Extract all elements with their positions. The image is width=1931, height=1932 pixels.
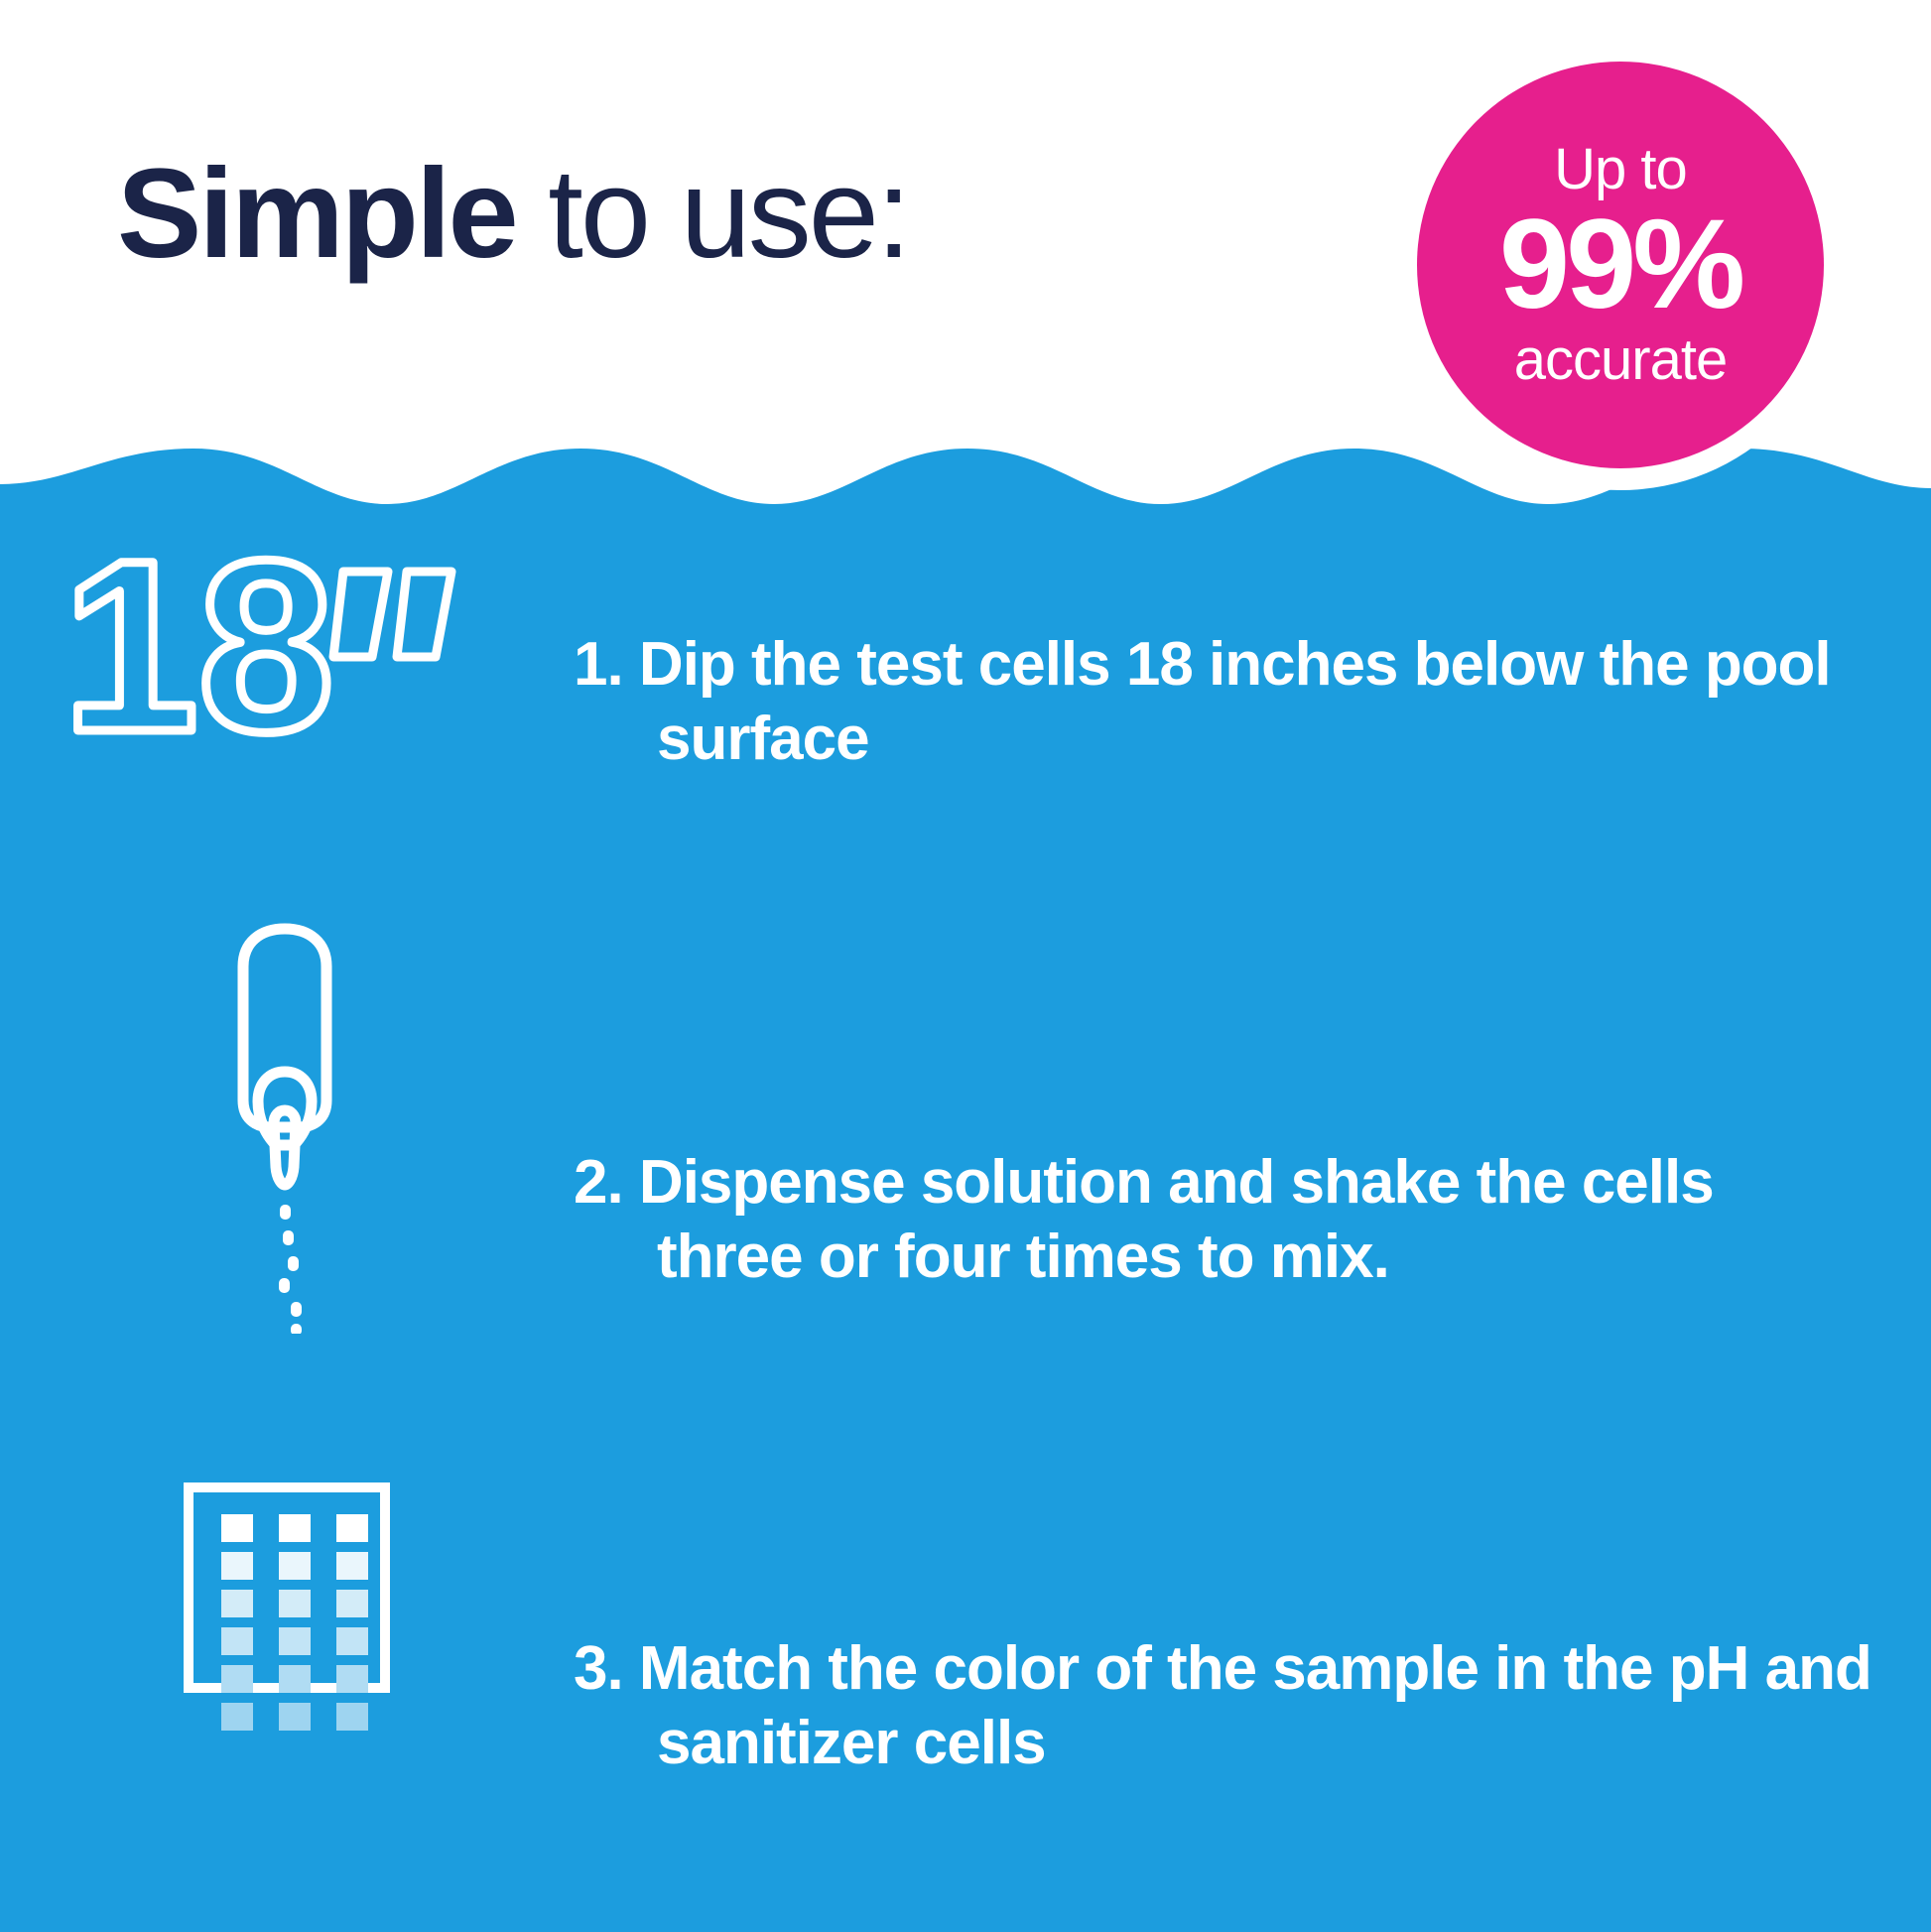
page-title: Simple to use: — [117, 151, 909, 278]
color-swatch — [221, 1665, 253, 1693]
color-swatch — [279, 1665, 311, 1693]
color-swatch — [221, 1703, 253, 1731]
color-swatch — [336, 1590, 368, 1617]
step-row: 18 1. Dip the test cells 18 inches below… — [0, 536, 1931, 776]
color-swatch — [279, 1552, 311, 1580]
color-swatch — [221, 1514, 253, 1542]
step-row: 3. Match the color of the sample in the … — [0, 1482, 1931, 1780]
color-swatch — [221, 1590, 253, 1617]
dropper-bottle-icon — [171, 907, 399, 1334]
color-swatch — [336, 1552, 368, 1580]
step-text: 3. Match the color of the sample in the … — [639, 1482, 1931, 1780]
color-swatch — [336, 1703, 368, 1731]
badge-up-to-label: Up to — [1554, 141, 1687, 198]
color-swatch — [279, 1703, 311, 1731]
page-title-strong: Simple — [117, 143, 516, 285]
step-row: 2. Dispense solution and shake the cells… — [0, 907, 1931, 1334]
color-swatch — [279, 1590, 311, 1617]
steps-list: 18 1. Dip the test cells 18 inches below… — [0, 536, 1931, 1780]
color-swatch — [221, 1552, 253, 1580]
badge-percent-value: 99% — [1499, 200, 1741, 330]
color-swatch — [336, 1665, 368, 1693]
color-swatch — [336, 1514, 368, 1542]
step-text: 1. Dip the test cells 18 inches below th… — [639, 536, 1931, 776]
color-swatch — [279, 1514, 311, 1542]
inch-marks-icon — [333, 572, 451, 657]
step-text: 2. Dispense solution and shake the cells… — [639, 907, 1931, 1294]
infographic-page: Simple to use: Up to 99% accurate 18 1. … — [0, 0, 1931, 1932]
page-title-rest: to use: — [516, 143, 909, 285]
eighteen-inches-icon: 18 — [55, 536, 471, 764]
step-icon-cell — [0, 907, 556, 1334]
step-icon-cell — [0, 1482, 556, 1693]
badge-accurate-label: accurate — [1514, 331, 1727, 389]
accuracy-badge: Up to 99% accurate — [1417, 62, 1824, 468]
color-swatch — [336, 1627, 368, 1655]
color-swatch — [279, 1627, 311, 1655]
color-chart-icon — [184, 1482, 390, 1693]
liquid-drips-icon — [279, 1205, 302, 1334]
step-icon-cell: 18 — [0, 536, 556, 764]
svg-text:18: 18 — [63, 536, 334, 764]
color-swatch — [221, 1627, 253, 1655]
